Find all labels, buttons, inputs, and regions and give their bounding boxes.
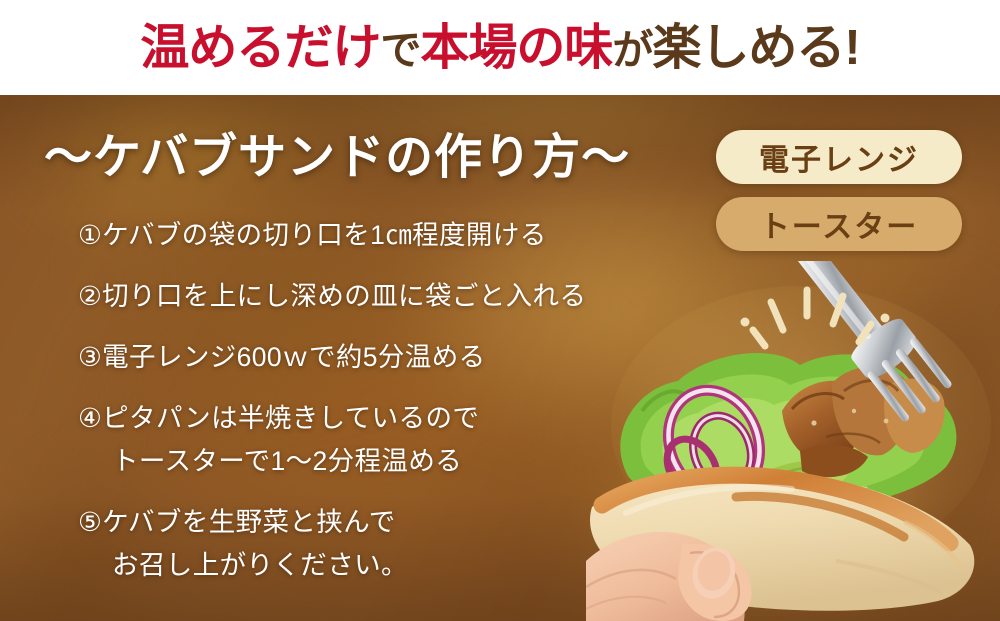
step-4-line-1: ④ピタパンは半焼きしているので — [78, 403, 479, 433]
step-3-line-1: ③電子レンジ600ｗで約5分温める — [78, 342, 486, 372]
badge-microwave-label: 電子レンジ — [759, 135, 919, 179]
badge-microwave: 電子レンジ — [716, 130, 962, 184]
badge-toaster: トースター — [716, 197, 962, 251]
step-5-line-1: ⑤ケバブを生野菜と挟んで — [78, 507, 396, 537]
headline-part-3: 本場の味 — [420, 21, 612, 75]
headline-part-1: 温めるだけ — [140, 21, 380, 75]
appliance-badge-list: 電子レンジ トースター — [716, 130, 962, 251]
page-title: ～ケバブサンドの作り方～ — [44, 117, 630, 187]
list-item: ①ケバブの袋の切り口を1㎝程度開ける — [78, 218, 698, 253]
sparkle-burst — [735, 272, 905, 362]
step-2-line-1: ②切り口を上にし深めの皿に袋ごと入れる — [78, 281, 586, 311]
page-headline: 温めるだけで本場の味が楽しめる! — [140, 24, 859, 73]
header-band: 温めるだけで本場の味が楽しめる! — [0, 0, 1000, 95]
step-1-line-1: ①ケバブの袋の切り口を1㎝程度開ける — [78, 220, 547, 250]
advertisement-banner: ～ケバブサンドの作り方～ 電子レンジ トースター ①ケバブの袋の切り口を1㎝程度… — [0, 0, 1000, 621]
headline-part-4: が — [612, 27, 652, 73]
headline-part-2: で — [380, 27, 420, 73]
headline-part-5: 楽しめる! — [652, 21, 859, 75]
badge-toaster-label: トースター — [760, 202, 919, 246]
